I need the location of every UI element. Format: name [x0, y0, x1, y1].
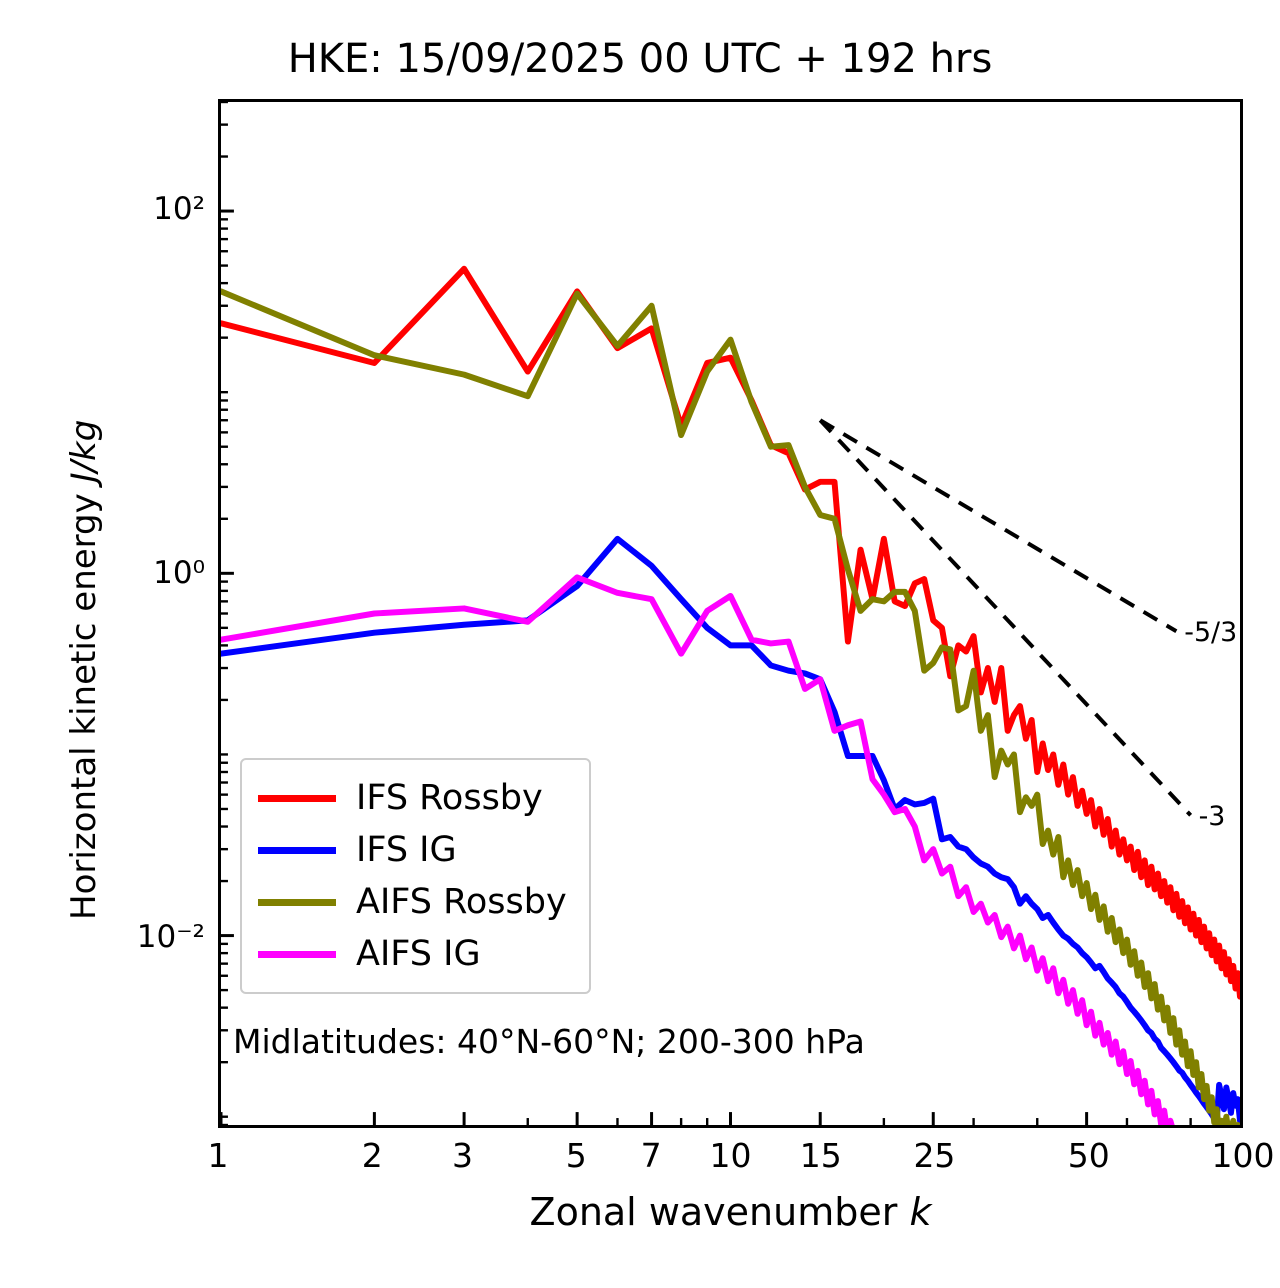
x-tick-label: 3 — [452, 1136, 473, 1175]
x-axis-label-text: Zonal wavenumber — [530, 1190, 910, 1234]
x-axis-label: Zonal wavenumber k — [218, 1190, 1243, 1234]
x-tick-label: 7 — [641, 1136, 662, 1175]
legend-label: AIFS IG — [356, 934, 481, 974]
legend-item: IFS Rossby — [258, 772, 567, 824]
legend-color-swatch — [258, 899, 336, 906]
chart-figure: HKE: 15/09/2025 00 UTC + 192 hrs Horizon… — [0, 0, 1280, 1288]
legend-color-swatch — [258, 951, 336, 958]
x-tick-label: 1 — [208, 1136, 229, 1175]
x-tick-label: 2 — [362, 1136, 383, 1175]
y-tick-label: 10² — [153, 191, 205, 227]
x-tick-label: 100 — [1212, 1136, 1275, 1175]
reference-slope-lines: -5/3-3 — [820, 420, 1237, 832]
legend-color-swatch — [258, 847, 336, 854]
x-tick-label: 15 — [800, 1136, 842, 1175]
data-series-group — [221, 269, 1240, 1125]
chart-legend: IFS RossbyIFS IGAIFS RossbyAIFS IG — [240, 758, 591, 994]
legend-label: IFS IG — [356, 830, 457, 870]
reference-line-label: -3 — [1199, 801, 1226, 832]
reference-line-label: -5/3 — [1184, 617, 1237, 648]
x-tick-label: 25 — [913, 1136, 955, 1175]
legend-item: AIFS IG — [258, 928, 567, 980]
x-axis-variable: k — [909, 1190, 931, 1234]
x-tick-label: 10 — [710, 1136, 752, 1175]
legend-item: IFS IG — [258, 824, 567, 876]
x-tick-label: 5 — [566, 1136, 587, 1175]
legend-color-swatch — [258, 795, 336, 802]
legend-item: AIFS Rossby — [258, 876, 567, 928]
region-annotation: Midlatitudes: 40°N-60°N; 200-300 hPa — [233, 1022, 865, 1061]
x-tick-label: 50 — [1068, 1136, 1110, 1175]
y-tick-label: 10⁰ — [153, 555, 205, 591]
legend-label: AIFS Rossby — [356, 882, 567, 922]
series-line-aifs-rossby — [221, 291, 1240, 1125]
x-axis-tick-labels: 1235710152550100 — [0, 1136, 1280, 1190]
legend-label: IFS Rossby — [356, 778, 543, 818]
y-tick-label: 10⁻² — [137, 919, 205, 955]
y-axis-tick-labels: 10²10⁰10⁻² — [0, 0, 205, 1288]
